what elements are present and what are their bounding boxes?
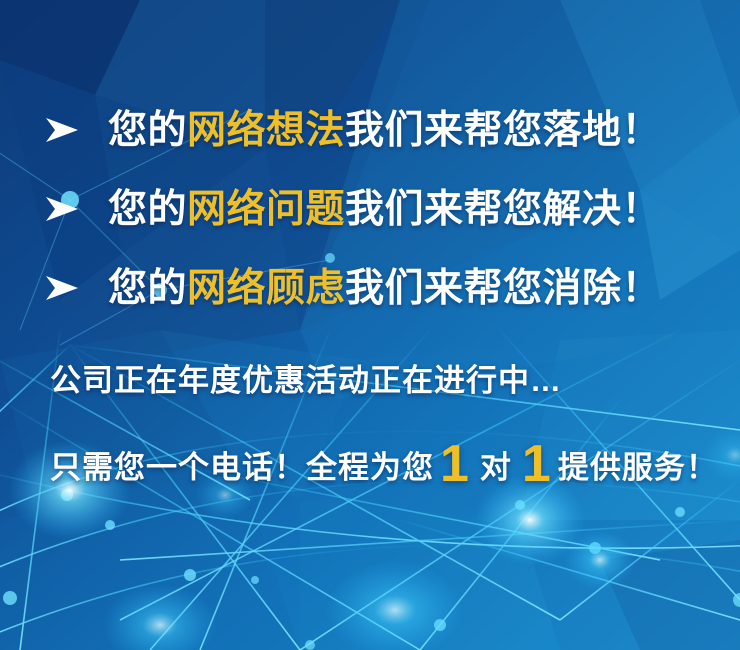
headline-3-prefix: 您的 bbox=[108, 267, 187, 310]
headline-3-suffix: 我们来帮您消除！ bbox=[345, 267, 661, 310]
service-number-one-a: 1 bbox=[440, 438, 470, 490]
subline-service: 只需您一个电话！全程为您 1 对 1 提供服务！ bbox=[50, 435, 718, 487]
arrow-right-icon bbox=[44, 275, 80, 301]
arrow-right-icon bbox=[44, 196, 80, 222]
service-number-separator: 对 bbox=[480, 452, 512, 483]
headline-2-suffix: 我们来帮您解决！ bbox=[345, 188, 661, 231]
promo-banner: 您的网络想法我们来帮您落地！ 您的网络问题我们来帮您解决！ 您的网络顾虑我们来帮… bbox=[0, 0, 740, 650]
headline-row-1: 您的网络想法我们来帮您落地！ bbox=[0, 104, 740, 156]
subline-promotion: 公司正在年度优惠活动正在进行中… bbox=[50, 365, 562, 396]
headline-1-prefix: 您的 bbox=[108, 109, 187, 152]
headline-row-3: 您的网络顾虑我们来帮您消除！ bbox=[0, 262, 740, 314]
arrow-right-icon bbox=[44, 117, 80, 143]
headline-2-prefix: 您的 bbox=[108, 188, 187, 231]
banner-content: 您的网络想法我们来帮您落地！ 您的网络问题我们来帮您解决！ 您的网络顾虑我们来帮… bbox=[0, 0, 740, 650]
headline-1-suffix: 我们来帮您落地！ bbox=[345, 109, 661, 152]
headline-text-3: 您的网络顾虑我们来帮您消除！ bbox=[108, 269, 661, 308]
headline-1-highlight: 网络想法 bbox=[187, 109, 345, 152]
headline-text-2: 您的网络问题我们来帮您解决！ bbox=[108, 190, 661, 229]
subline-service-part1: 只需您一个电话！全程为您 bbox=[50, 452, 434, 483]
subline-promotion-text: 公司正在年度优惠活动正在进行中… bbox=[50, 365, 562, 396]
headline-row-2: 您的网络问题我们来帮您解决！ bbox=[0, 183, 740, 235]
headline-3-highlight: 网络顾虑 bbox=[187, 267, 345, 310]
headline-2-highlight: 网络问题 bbox=[187, 188, 345, 231]
headline-text-1: 您的网络想法我们来帮您落地！ bbox=[108, 111, 661, 150]
subline-service-part2: 提供服务！ bbox=[558, 452, 718, 483]
service-number-one-b: 1 bbox=[522, 438, 552, 490]
